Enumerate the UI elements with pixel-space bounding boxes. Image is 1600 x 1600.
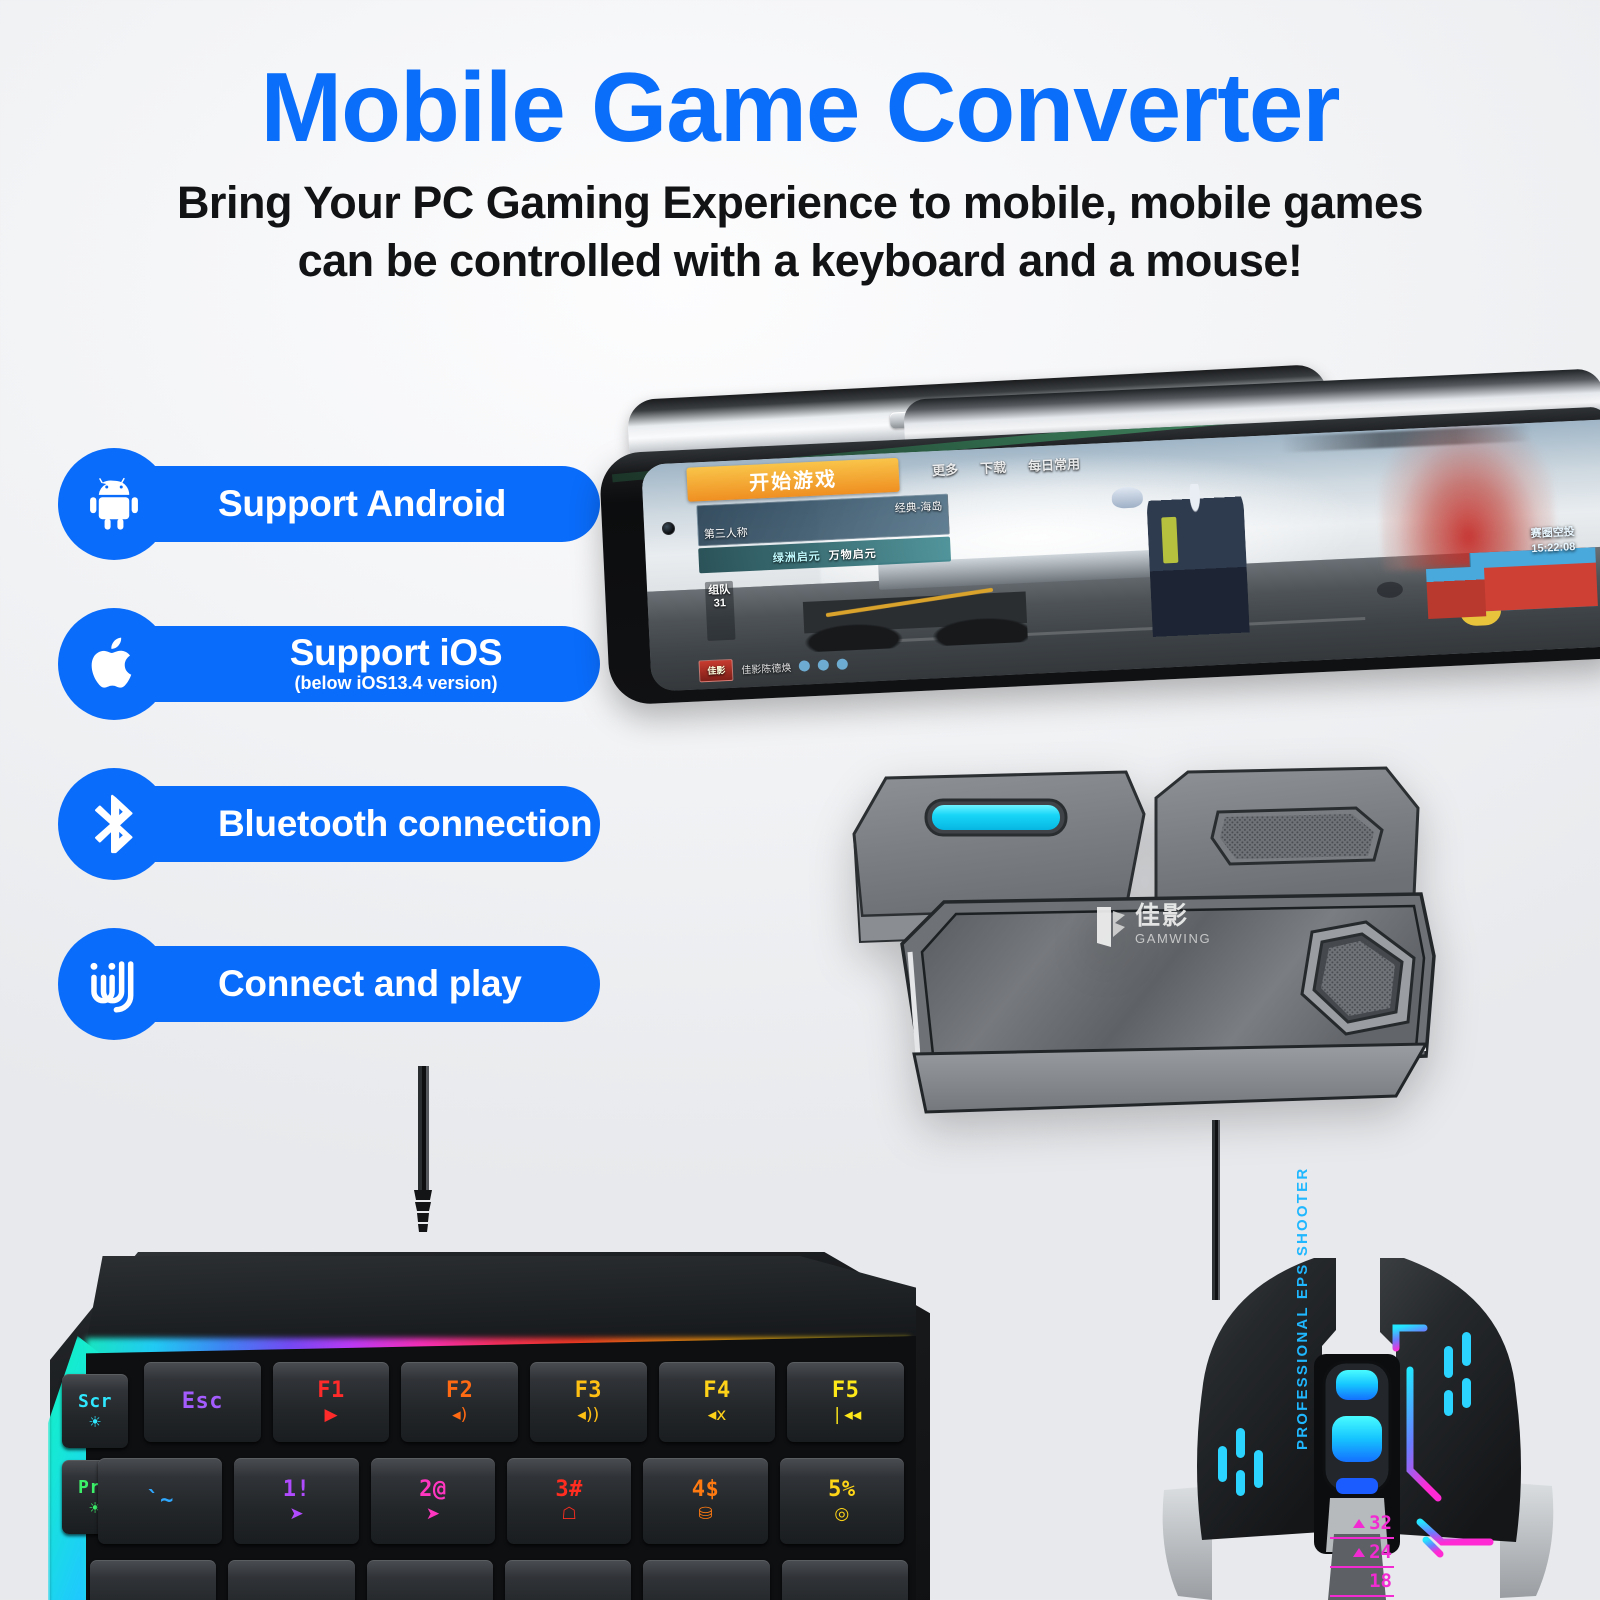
android-icon: [85, 475, 143, 533]
keyboard-top-face: [86, 1256, 916, 1344]
rifle-icon: ➤: [289, 1506, 303, 1523]
game-team-label: 组队: [705, 584, 734, 598]
subtitle-line-2: can be controlled with a keyboard and a …: [0, 232, 1600, 290]
game-player-name: 佳影陈德焕: [741, 659, 792, 676]
volume-up-icon: ◂)): [577, 1407, 599, 1424]
key-t[interactable]: T: [782, 1560, 908, 1600]
key-f2[interactable]: F2 ◂): [401, 1362, 518, 1442]
dpi-level-row: 24: [1330, 1539, 1394, 1568]
scene-supply-crate-2: [1426, 566, 1486, 619]
dpi-triangle-icon: [1353, 1548, 1365, 1557]
phone-front-unit: 开始游戏 更多 下载 每日常用 经典-海岛 第三人称 绿洲启元 万物启元 组队 …: [599, 406, 1600, 705]
key-f5[interactable]: F5 ❘◂◂: [787, 1362, 904, 1442]
plug-connector-icon: [83, 953, 145, 1015]
feature-badge-connect-and-play[interactable]: Connect and play: [58, 928, 578, 1040]
badge-label: Connect and play: [218, 965, 522, 1004]
key-legend: F4: [703, 1380, 731, 1402]
game-team-count: 31: [706, 597, 735, 611]
page-title: Mobile Game Converter: [0, 58, 1600, 156]
key-f4[interactable]: F4 ◂x: [659, 1362, 776, 1442]
feature-badge-android[interactable]: Support Android: [58, 448, 578, 560]
key-w[interactable]: W: [367, 1560, 493, 1600]
page-subtitle: Bring Your PC Gaming Experience to mobil…: [0, 174, 1600, 289]
keyboard-qwerty-row: Tab Q W E R T: [90, 1560, 908, 1600]
key-legend: 5%: [828, 1479, 856, 1501]
scene-red-smoke: [1376, 419, 1557, 571]
scroll-wheel-led-lower: [1332, 1416, 1382, 1462]
subtitle-line-1: Bring Your PC Gaming Experience to mobil…: [0, 174, 1600, 232]
game-clan-tag: 佳影: [699, 659, 734, 683]
smg-icon: ➤: [426, 1506, 440, 1523]
led-indicator: [932, 805, 1060, 830]
brand-name-en: GAMWING: [1135, 929, 1211, 949]
gaming-mouse: PROFESSIONAL EPS SHOOTER 32 24 18 12: [1118, 1180, 1600, 1600]
badge-pill: Support Android: [110, 466, 600, 542]
scene-supply-crate: [1469, 547, 1597, 612]
game-status-dot: [818, 660, 830, 672]
game-mode-map: 经典-海岛: [894, 498, 942, 516]
badge-pill: Connect and play: [110, 946, 600, 1022]
key-2[interactable]: 2@ ➤: [371, 1458, 495, 1544]
key-tab[interactable]: Tab: [90, 1560, 216, 1600]
game-status-dot: [837, 659, 849, 671]
mouse-dpi-scale: 32 24 18 12: [1330, 1510, 1394, 1600]
scene-buggy-vehicle: [802, 574, 1028, 653]
game-tab-daily[interactable]: 每日常用: [1028, 453, 1081, 474]
speaker-mesh-top: [1220, 814, 1374, 859]
game-event-right: 万物启元: [828, 545, 877, 563]
dpi-triangle-icon: [1353, 1519, 1365, 1528]
phone-product-photo: 开始游戏 更多 下载 每日常用 经典-海岛 第三人称 绿洲启元 万物启元 组队 …: [604, 372, 1600, 682]
badge-label: Support Android: [218, 485, 506, 524]
game-mode-perspective: 第三人称: [703, 524, 748, 542]
game-converter-device: 佳影 GAMWING: [826, 756, 1446, 1126]
media-play-icon: ▶: [324, 1407, 337, 1424]
feature-badge-list: Support Android Support iOS (below iOS13…: [58, 448, 578, 1088]
dpi-value: 24: [1369, 1541, 1392, 1563]
key-4[interactable]: 4$ ⛁: [643, 1458, 767, 1544]
game-tab-more[interactable]: 更多: [932, 459, 959, 479]
grenade-icon: ◎: [834, 1506, 849, 1523]
badge-pill: Support iOS (below iOS13.4 version): [110, 626, 600, 702]
key-legend: 1!: [283, 1479, 311, 1501]
key-legend: F3: [575, 1380, 603, 1402]
badge-pill: Bluetooth connection: [110, 786, 600, 862]
key-e[interactable]: E: [505, 1560, 631, 1600]
mouse-side-text: PROFESSIONAL EPS SHOOTER: [1294, 1167, 1311, 1450]
key-legend: F2: [446, 1380, 474, 1402]
game-tab-download[interactable]: 下载: [980, 457, 1007, 477]
gamwing-logo-mark: [1094, 905, 1128, 949]
badge-label: Support iOS: [218, 634, 574, 673]
key-f3[interactable]: F3 ◂)): [530, 1362, 647, 1442]
dpi-value: 18: [1369, 1570, 1392, 1592]
key-legend: Scr: [78, 1393, 112, 1411]
brand-name-cn: 佳影: [1135, 904, 1211, 929]
badge-icon-holder: [58, 448, 170, 560]
keyboard-cable: [410, 1066, 436, 1232]
badge-icon-holder: [58, 608, 170, 720]
key-f1[interactable]: F1 ▶: [273, 1362, 390, 1442]
key-r[interactable]: R: [643, 1560, 769, 1600]
keyboard-function-row: Esc F1 ▶ F2 ◂) F3 ◂)) F4 ◂x F5 ❘◂◂: [144, 1362, 904, 1442]
pistol-icon: ☖: [562, 1506, 577, 1523]
scroll-wheel-led: [1336, 1370, 1378, 1400]
media-previous-icon: ❘◂◂: [830, 1407, 861, 1424]
key-scroll-lock[interactable]: Scr ☀: [62, 1374, 128, 1448]
key-legend: 3#: [555, 1479, 583, 1501]
key-legend: 2@: [419, 1479, 447, 1501]
badge-icon-holder: [58, 928, 170, 1040]
dpi-level-row: 18: [1330, 1568, 1394, 1597]
volume-mute-icon: ◂x: [708, 1407, 727, 1424]
bluetooth-icon: [86, 793, 142, 855]
scene-player-character: [1146, 482, 1250, 650]
game-event-left: 绿洲启元: [772, 547, 821, 565]
game-timer: 赛圈空投 15:22:08: [1530, 525, 1575, 556]
one-handed-gaming-keyboard: Scr ☀ Prt ☀ Esc F1 ▶ F2 ◂) F3 ◂)) F4 ◂x …: [0, 1186, 950, 1600]
key-backtick-tilde[interactable]: `~: [98, 1458, 222, 1544]
key-legend: F5: [832, 1380, 860, 1402]
badge-label: Bluetooth connection: [218, 805, 592, 844]
game-team-panel[interactable]: 组队 31: [705, 581, 736, 641]
key-legend: 4$: [692, 1479, 720, 1501]
apple-icon: [85, 633, 143, 695]
converter-brand-logo: 佳影 GAMWING: [1094, 904, 1211, 949]
game-status-dot: [799, 661, 811, 673]
page-header: Mobile Game Converter Bring Your PC Gami…: [0, 58, 1600, 289]
volume-down-icon: ◂): [452, 1407, 467, 1424]
key-legend: F1: [317, 1380, 345, 1402]
key-legend: `~: [146, 1490, 174, 1512]
feature-badge-bluetooth[interactable]: Bluetooth connection: [58, 768, 578, 880]
dpi-value: 32: [1369, 1512, 1392, 1534]
scene-character-suit-trim: [1161, 517, 1179, 563]
game-timer-value: 15:22:08: [1531, 540, 1576, 556]
key-legend: Esc: [182, 1391, 223, 1413]
feature-badge-ios[interactable]: Support iOS (below iOS13.4 version): [58, 608, 578, 720]
dpi-level-row: 32: [1330, 1510, 1394, 1539]
key-1[interactable]: 1! ➤: [234, 1458, 358, 1544]
keyboard-number-row: `~ 1! ➤ 2@ ➤ 3# ☖ 4$ ⛁ 5% ◎: [98, 1458, 904, 1544]
backpack-icon: ⛁: [698, 1506, 712, 1523]
key-5[interactable]: 5% ◎: [780, 1458, 904, 1544]
key-brightness-down-icon: ☀: [88, 1415, 101, 1430]
key-q[interactable]: Q: [228, 1560, 354, 1600]
badge-sublabel: (below iOS13.4 version): [218, 673, 574, 694]
key-esc[interactable]: Esc: [144, 1362, 261, 1442]
phone-screen: 开始游戏 更多 下载 每日常用 经典-海岛 第三人称 绿洲启元 万物启元 组队 …: [641, 419, 1600, 691]
key-3[interactable]: 3# ☖: [507, 1458, 631, 1544]
badge-icon-holder: [58, 768, 170, 880]
